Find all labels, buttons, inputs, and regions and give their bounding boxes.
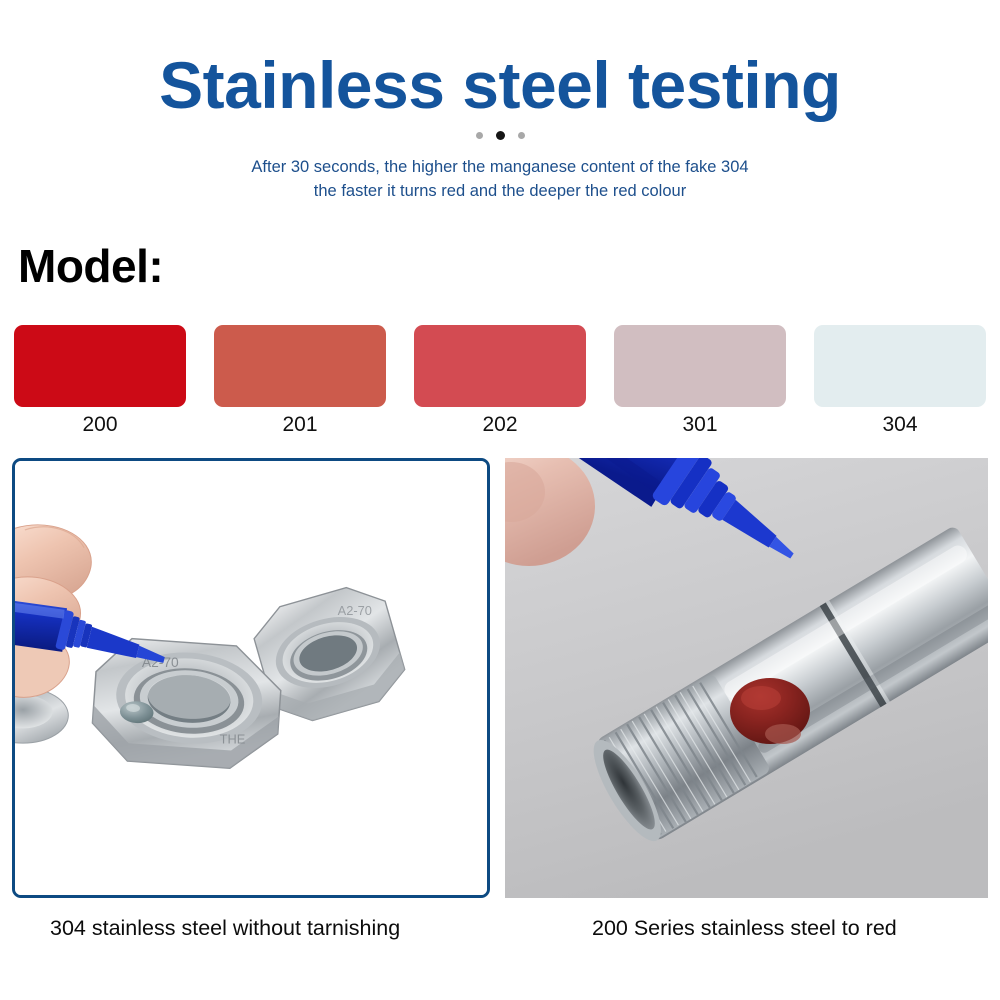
swatch-label-304: 304: [882, 414, 917, 435]
caption-row: 304 stainless steel without tarnishing 2…: [0, 918, 1000, 958]
color-swatch-201: [214, 325, 386, 407]
swatch-label-202: 202: [482, 414, 517, 435]
reagent-droplet-right: [730, 678, 810, 744]
model-heading: Model:: [18, 243, 163, 289]
dot-1: [476, 132, 483, 139]
photo-row: A2-70 A2-70 THE: [0, 458, 1000, 900]
swatch-cell-301: 301: [614, 325, 786, 435]
swatch-cell-201: 201: [214, 325, 386, 435]
page-title: Stainless steel testing: [0, 0, 1000, 118]
dot-separator: [0, 129, 1000, 141]
subtitle-line-2: the faster it turns red and the deeper t…: [0, 180, 1000, 204]
swatch-label-200: 200: [82, 414, 117, 435]
svg-text:THE: THE: [220, 732, 246, 747]
caption-left: 304 stainless steel without tarnishing: [50, 918, 400, 940]
swatch-cell-304: 304: [814, 325, 986, 435]
color-swatch-202: [414, 325, 586, 407]
swatch-label-201: 201: [282, 414, 317, 435]
subtitle-line-1: After 30 seconds, the higher the mangane…: [0, 156, 1000, 180]
dot-2: [496, 131, 505, 140]
caption-right: 200 Series stainless steel to red: [592, 918, 897, 940]
header: Stainless steel testing After 30 seconds…: [0, 0, 1000, 204]
swatch-cell-200: 200: [14, 325, 186, 435]
subtitle: After 30 seconds, the higher the mangane…: [0, 156, 1000, 204]
photo-panel-right: [505, 458, 988, 898]
color-swatch-301: [614, 325, 786, 407]
model-swatch-row: 200 201 202 301 304: [14, 325, 986, 435]
photo-left-image: A2-70 A2-70 THE: [15, 461, 487, 895]
swatch-label-301: 301: [682, 414, 717, 435]
color-swatch-200: [14, 325, 186, 407]
product-infographic: Stainless steel testing After 30 seconds…: [0, 0, 1000, 1000]
color-swatch-304: [814, 325, 986, 407]
svg-text:A2-70: A2-70: [338, 603, 372, 618]
dot-3: [518, 132, 525, 139]
swatch-cell-202: 202: [414, 325, 586, 435]
photo-right-image: [505, 458, 988, 898]
photo-panel-left: A2-70 A2-70 THE: [12, 458, 490, 898]
